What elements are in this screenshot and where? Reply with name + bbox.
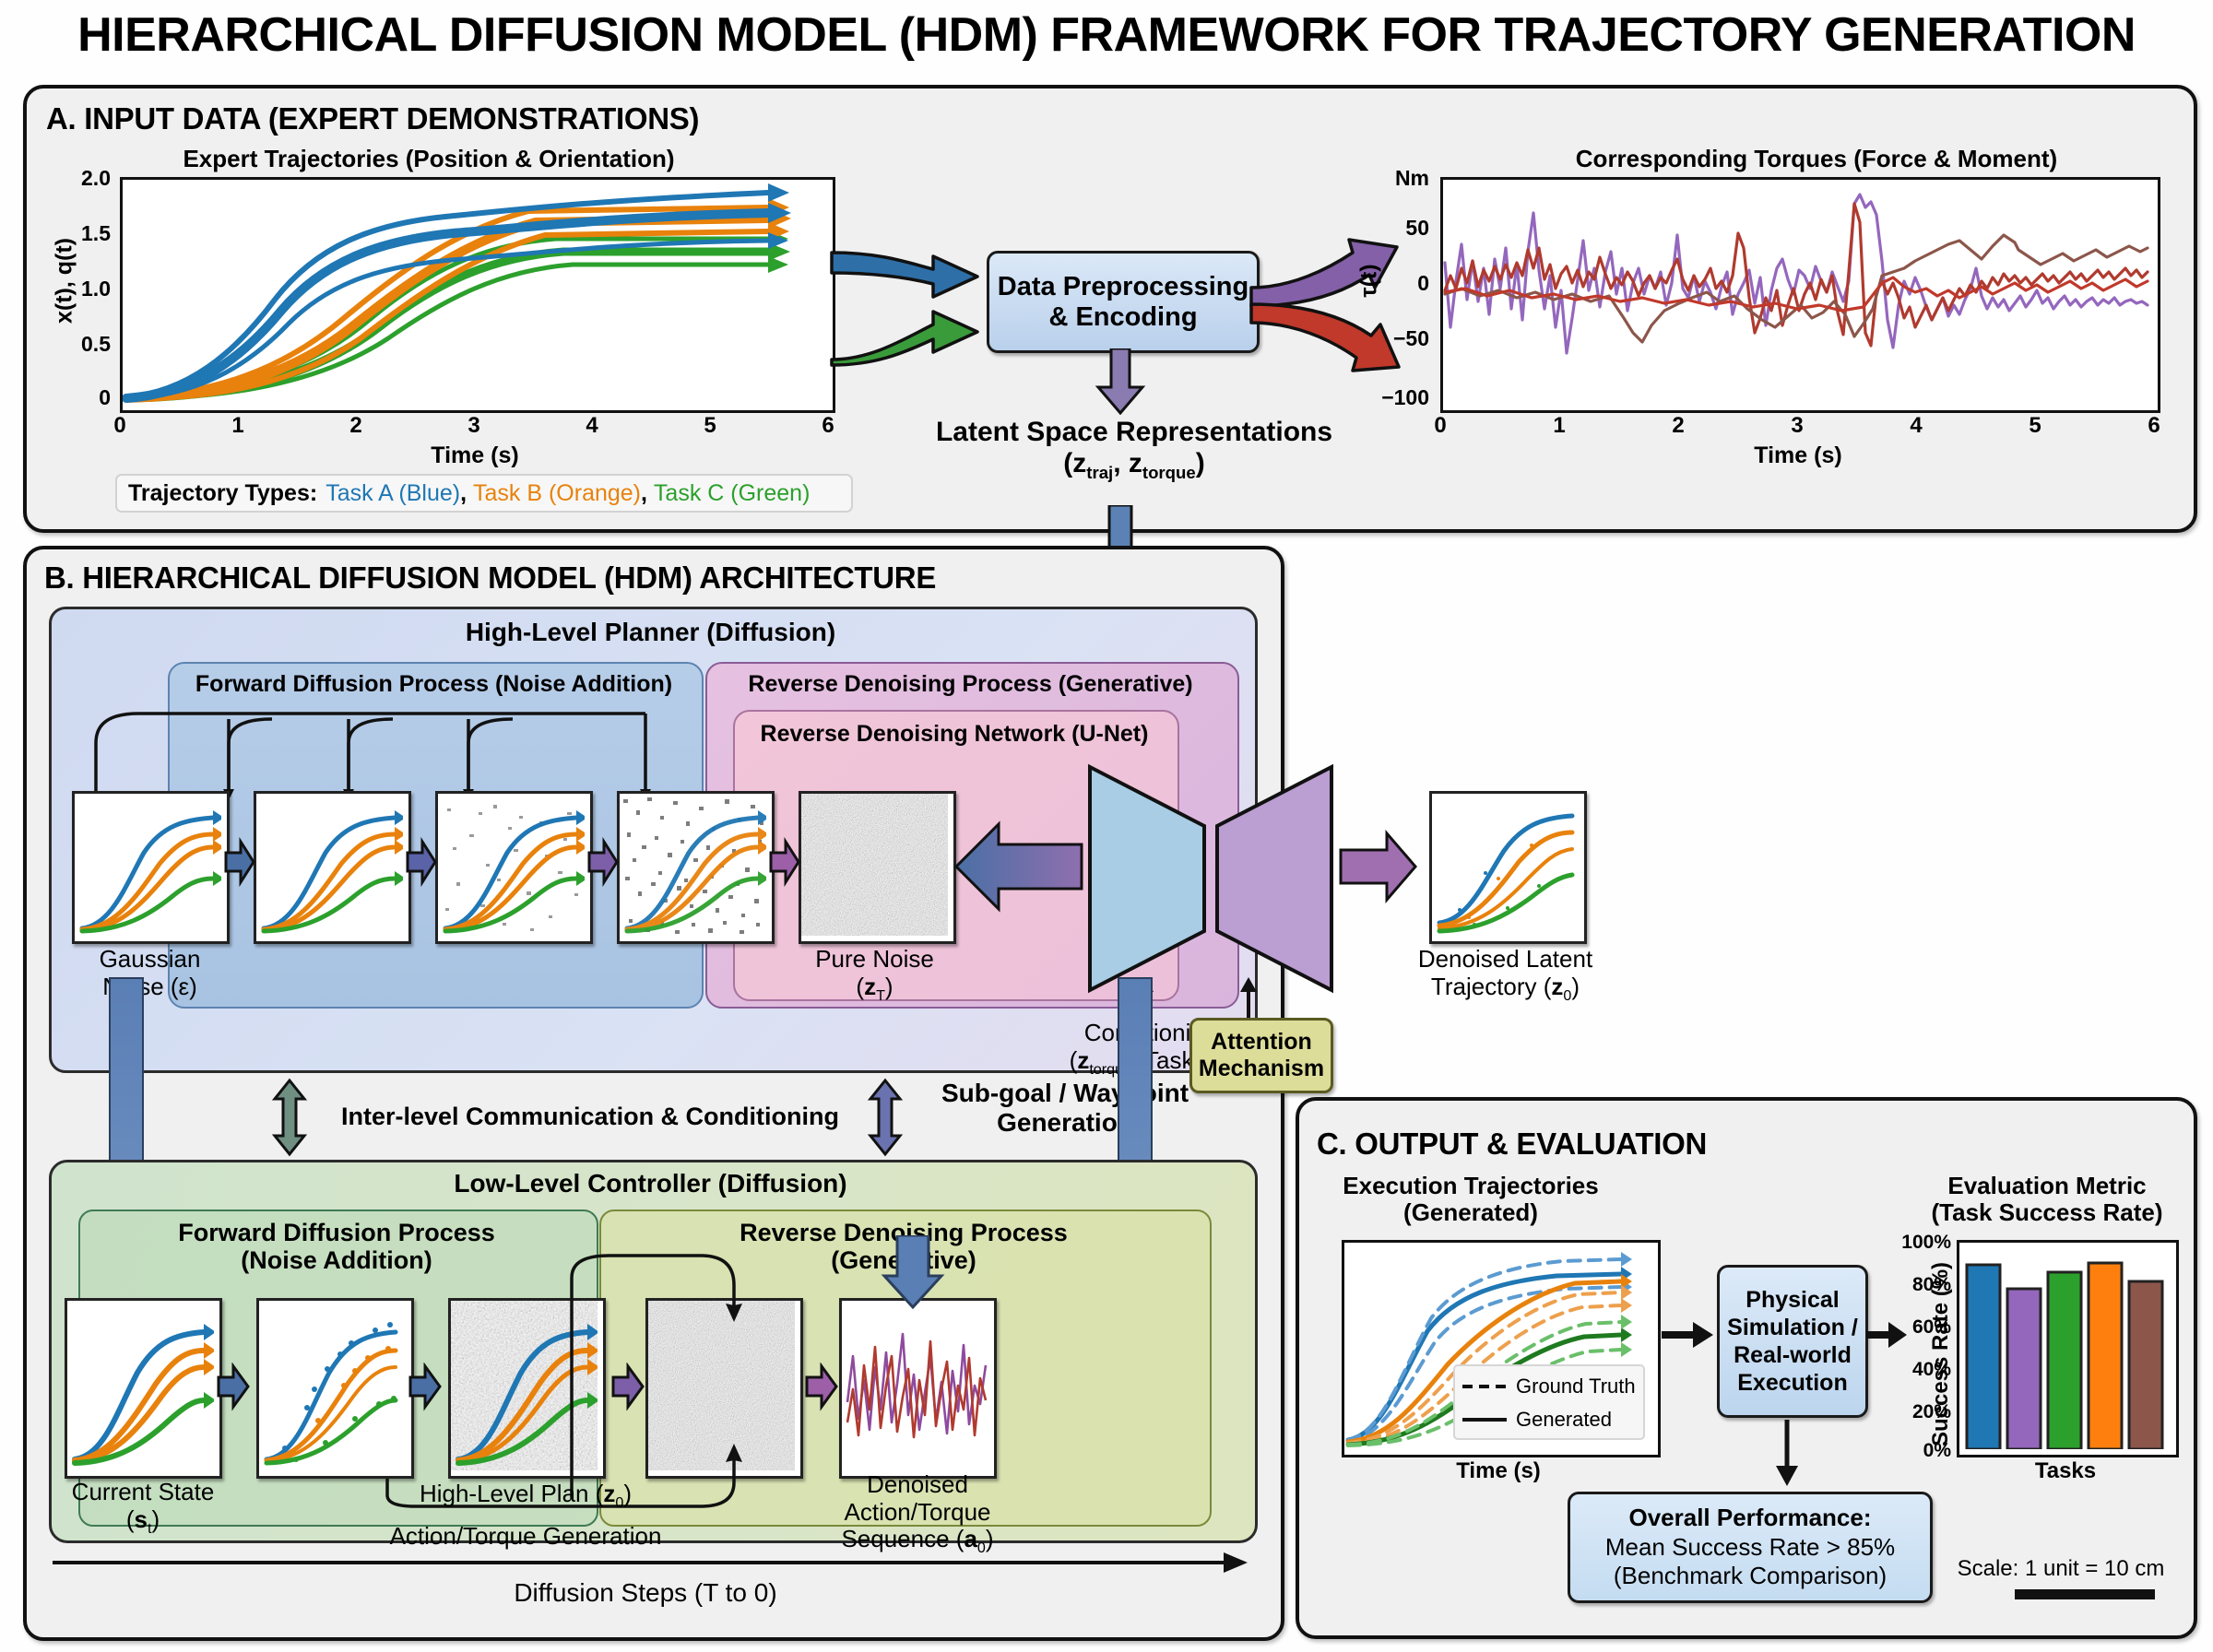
unet-to-purenoise-arrow — [954, 820, 1083, 913]
torque-xtick-2: 2 — [1660, 413, 1697, 439]
execution-to-sim-arrow — [1660, 1318, 1715, 1351]
overall-performance-box[interactable]: Overall Performance: Mean Success Rate >… — [1568, 1492, 1933, 1603]
expert-xtick-4: 4 — [574, 413, 610, 439]
torque-xtick-3: 3 — [1779, 413, 1816, 439]
sim-line2: Simulation / — [1727, 1314, 1858, 1341]
legend-ground-truth-label: Ground Truth — [1516, 1375, 1636, 1398]
metric-title-line1: Evaluation Metric — [1899, 1173, 2195, 1199]
figure-title: HIERARCHICAL DIFFUSION MODEL (HDM) FRAME… — [0, 7, 2213, 63]
panel-c-heading: C. OUTPUT & EVALUATION — [1317, 1127, 1707, 1162]
torque-xlabel: Time (s) — [1627, 442, 1969, 469]
preprocess-line2: & Encoding — [1048, 302, 1197, 333]
legend-item-task-a: Task A (Blue) — [325, 480, 460, 507]
expert-ytick-4: 0 — [46, 385, 111, 410]
scale-bar — [2015, 1589, 2155, 1599]
attention-line1: Attention — [1211, 1029, 1312, 1056]
expert-trajectories-xlabel: Time (s) — [304, 442, 645, 469]
execution-axes: Ground Truth Generated — [1342, 1240, 1661, 1457]
input-arrows-to-preprocessing — [830, 221, 996, 369]
thumb-current-state — [65, 1298, 222, 1479]
gaussian-noise-line2: Noise (ε) — [46, 973, 254, 1001]
metric-title-line2: (Task Success Rate) — [1899, 1199, 2195, 1226]
torque-xtick-4: 4 — [1898, 413, 1935, 439]
pure-noise-line2: (zT) — [780, 973, 969, 1005]
current-state-caption: Current State (st) — [46, 1479, 240, 1537]
legend-solid-swatch — [1461, 1415, 1509, 1424]
thumb-pure-noise — [799, 791, 956, 944]
expert-xtick-5: 5 — [692, 413, 728, 439]
expert-ytick-0: 2.0 — [46, 166, 111, 191]
denoised-latent-line1: Denoised Latent — [1383, 946, 1627, 973]
torque-xtick-1: 1 — [1541, 413, 1578, 439]
torque-axes — [1440, 177, 2160, 413]
torque-xtick-5: 5 — [2017, 413, 2053, 439]
latent-down-arrow — [1093, 348, 1148, 415]
torque-ytick-1: 0 — [1355, 271, 1429, 296]
thumb-denoised-latent — [1429, 791, 1587, 944]
overall-line3: (Benchmark Comparison) — [1614, 1562, 1887, 1591]
unet-diagram — [1086, 763, 1335, 994]
pure-noise-line1: Pure Noise — [780, 946, 969, 973]
expert-xtick-0: 0 — [101, 413, 138, 439]
unet-title: Reverse Denoising Network (U-Net) — [733, 721, 1176, 747]
denoised-action-line1: Denoised — [811, 1471, 1024, 1499]
denoised-action-line2: Action/Torque — [811, 1499, 1024, 1527]
scale-note: Scale: 1 unit = 10 cm — [1946, 1556, 2176, 1581]
success-ytick-80: 80% — [1853, 1274, 1951, 1296]
denoised-latent-caption: Denoised Latent Trajectory (z0) — [1383, 946, 1627, 1004]
low-level-controller-title: Low-Level Controller (Diffusion) — [49, 1169, 1252, 1198]
legend-prefix: Trajectory Types: — [128, 480, 317, 507]
sim-to-overall-arrow — [1769, 1418, 1805, 1488]
gaussian-noise-line1: Gaussian — [46, 946, 254, 973]
torque-xtick-0: 0 — [1422, 413, 1459, 439]
expert-ytick-2: 1.0 — [46, 277, 111, 301]
subgoal-line1: Sub-goal / Waypoint — [913, 1079, 1217, 1108]
diffusion-steps-arrow — [51, 1551, 1249, 1575]
legend-sep-1: , — [460, 480, 473, 507]
legend-generated-label: Generated — [1516, 1408, 1612, 1432]
inter-level-label: Inter-level Communication & Conditioning — [304, 1103, 876, 1131]
execution-legend: Ground Truth Generated — [1453, 1364, 1645, 1440]
diffusion-steps-label: Diffusion Steps (T to 0) — [369, 1578, 922, 1608]
expert-trajectories-axes — [120, 177, 835, 413]
latent-space-label: Latent Space Representations (ztraj, zto… — [904, 417, 1365, 482]
expert-xtick-3: 3 — [456, 413, 492, 439]
subgoal-line2: Generation — [913, 1108, 1217, 1138]
expert-xtick-2: 2 — [337, 413, 374, 439]
torque-unit-label: Nm — [1365, 166, 1429, 191]
figure-root: HIERARCHICAL DIFFUSION MODEL (HDM) FRAME… — [0, 0, 2213, 1652]
success-ytick-0: 0% — [1853, 1440, 1951, 1462]
torque-ytick-0: 50 — [1355, 216, 1429, 241]
panel-a-heading: A. INPUT DATA (EXPERT DEMONSTRATIONS) — [46, 101, 699, 136]
expert-trajectories-title: Expert Trajectories (Position & Orientat… — [51, 146, 807, 172]
high-level-plan-text: High-Level Plan (z0) — [420, 1480, 632, 1507]
exec-title-line1: Execution Trajectories — [1319, 1173, 1623, 1199]
diffusion-step-arrows — [224, 834, 800, 899]
high-level-planner-title: High-Level Planner (Diffusion) — [49, 618, 1252, 646]
physical-simulation-box[interactable]: Physical Simulation / Real-world Executi… — [1717, 1265, 1868, 1418]
overall-line2: Mean Success Rate > 85% — [1605, 1533, 1895, 1563]
subgoal-down-arrow — [881, 1235, 945, 1309]
forward-diffusion-curved-arrows — [55, 701, 701, 797]
denoised-latent-line2: Trajectory (z0) — [1383, 973, 1627, 1005]
latent-line1: Latent Space Representations — [904, 417, 1365, 448]
torque-svg — [1443, 180, 2152, 405]
expert-xtick-6: 6 — [810, 413, 846, 439]
torque-plot-title: Corresponding Torques (Force & Moment) — [1448, 146, 2185, 172]
success-ytick-100: 100% — [1853, 1232, 1951, 1254]
torque-ytick-3: −100 — [1337, 385, 1429, 410]
preprocessing-output-arrows — [1249, 230, 1420, 383]
legend-sep-2: , — [641, 480, 654, 507]
subgoal-label: Sub-goal / Waypoint Generation — [913, 1079, 1217, 1138]
action-torque-generation-caption: Action/Torque Generation — [350, 1523, 701, 1551]
legend-dashed-swatch — [1461, 1382, 1509, 1391]
unet-output-arrow — [1339, 830, 1417, 903]
overall-line1: Overall Performance: — [1628, 1504, 1871, 1533]
gaussian-noise-caption: Gaussian Noise (ε) — [46, 946, 254, 1000]
expert-ytick-3: 0.5 — [46, 332, 111, 357]
execution-trajectories-title: Execution Trajectories (Generated) — [1319, 1173, 1623, 1226]
execution-xlabel: Time (s) — [1392, 1458, 1604, 1484]
sim-line4: Execution — [1737, 1369, 1847, 1397]
success-rate-xlabel: Tasks — [1982, 1458, 2148, 1484]
evaluation-metric-title: Evaluation Metric (Task Success Rate) — [1899, 1173, 2195, 1226]
denoised-action-caption: Denoised Action/Torque Sequence (a0) — [811, 1471, 1024, 1557]
data-preprocessing-box[interactable]: Data Preprocessing & Encoding — [987, 251, 1260, 353]
trajectory-types-legend: Trajectory Types: Task A (Blue) , Task B… — [115, 474, 853, 513]
success-ytick-40: 40% — [1853, 1359, 1951, 1381]
sim-line3: Real-world — [1734, 1341, 1852, 1369]
sim-line1: Physical — [1746, 1286, 1839, 1314]
attention-line2: Mechanism — [1199, 1056, 1324, 1082]
success-ytick-60: 60% — [1853, 1316, 1951, 1339]
expert-trajectories-svg — [123, 180, 827, 405]
thumb-gaussian-noise — [72, 791, 230, 944]
success-rate-bars — [1959, 1243, 2171, 1449]
expert-ytick-1: 1.5 — [46, 221, 111, 246]
latent-line2: (ztraj, ztorque) — [904, 448, 1365, 482]
high-level-plan-caption: High-Level Plan (z0) — [369, 1481, 682, 1512]
success-ytick-20: 20% — [1853, 1401, 1951, 1423]
reverse-denoising-title: Reverse Denoising Process (Generative) — [705, 671, 1236, 697]
legend-item-task-c: Task C (Green) — [654, 480, 810, 507]
current-state-line1: Current State — [46, 1479, 240, 1506]
forward-diffusion-title: Forward Diffusion Process (Noise Additio… — [168, 671, 700, 697]
panel-b-heading: B. HIERARCHICAL DIFFUSION MODEL (HDM) AR… — [44, 560, 936, 596]
success-rate-axes — [1957, 1240, 2179, 1457]
current-state-line2: (st) — [46, 1506, 240, 1538]
expert-xtick-1: 1 — [219, 413, 256, 439]
legend-item-task-b: Task B (Orange) — [473, 480, 641, 507]
pure-noise-caption: Pure Noise (zT) — [780, 946, 969, 1004]
exec-title-line2: (Generated) — [1319, 1199, 1623, 1226]
preprocess-line1: Data Preprocessing — [998, 272, 1249, 302]
torque-ytick-2: −50 — [1348, 326, 1429, 351]
torque-xtick-6: 6 — [2136, 413, 2172, 439]
